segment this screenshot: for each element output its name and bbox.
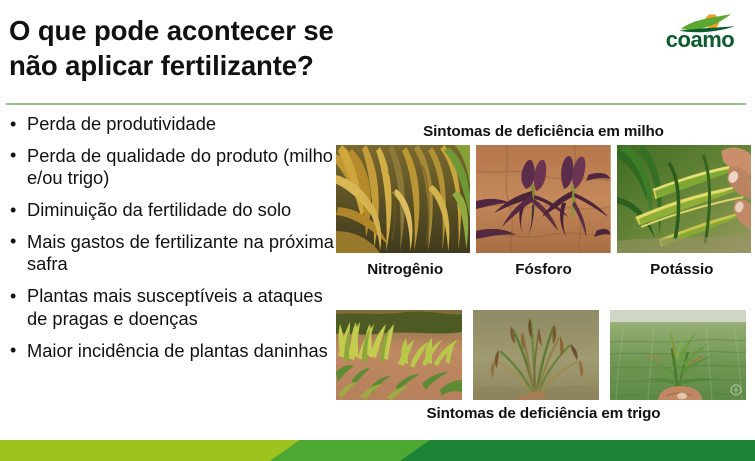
wheat-potassium-photo [610, 310, 746, 400]
corn-section-caption: Sintomas de deficiência em milho [336, 123, 751, 140]
wheat-section-caption: Sintomas de deficiência em trigo [336, 405, 751, 422]
wheat-nitrogen-photo [336, 310, 462, 400]
bullet-icon: • [10, 113, 16, 135]
bullet-icon: • [10, 199, 16, 221]
page-title: O que pode acontecer se não aplicar fert… [9, 14, 619, 83]
slide-canvas: O que pode acontecer se não aplicar fert… [0, 0, 755, 461]
bullet-icon: • [10, 144, 16, 166]
bullet-icon: • [10, 285, 16, 307]
list-item: • Perda de produtividade [6, 113, 336, 136]
wheat-phosphorus-photo [473, 310, 599, 400]
list-item: • Diminuição da fertilidade do solo [6, 199, 336, 222]
nutrient-label-row: Nitrogênio Fósforo Potássio [336, 261, 751, 278]
corn-potassium-photo [617, 145, 751, 253]
nutrient-label-phosphorus: Fósforo [474, 261, 612, 278]
coamo-logo: coamo [657, 8, 743, 52]
title-line-2: não aplicar fertilizante? [9, 49, 619, 84]
list-item-label: Perda de produtividade [27, 113, 216, 134]
corn-nitrogen-photo [336, 145, 470, 253]
nutrient-label-potassium: Potássio [613, 261, 751, 278]
bullet-icon: • [10, 230, 16, 252]
bullet-icon: • [10, 339, 16, 361]
list-item-label: Mais gastos de fertilizante na próxima s… [27, 231, 334, 275]
corn-photo-row [336, 145, 751, 253]
header-divider [6, 103, 746, 105]
wheat-photo-row [336, 310, 751, 400]
list-item: • Mais gastos de fertilizante na próxima… [6, 231, 336, 276]
list-item-label: Perda de qualidade do produto (milho e/o… [27, 145, 333, 189]
footer-light-segment [0, 440, 300, 461]
list-item-label: Plantas mais susceptíveis a ataques de p… [27, 285, 323, 329]
list-item-label: Maior incidência de plantas daninhas [27, 340, 328, 361]
footer-dark-right [400, 440, 755, 461]
title-line-1: O que pode acontecer se [9, 14, 619, 49]
list-item-label: Diminuição da fertilidade do solo [27, 199, 291, 220]
corn-phosphorus-photo [476, 145, 610, 253]
list-item: • Maior incidência de plantas daninhas [6, 340, 336, 363]
footer-bar [0, 440, 755, 461]
list-item: • Perda de qualidade do produto (milho e… [6, 145, 336, 190]
logo-wordmark: coamo [666, 27, 734, 52]
nutrient-label-nitrogen: Nitrogênio [336, 261, 474, 278]
list-item: • Plantas mais susceptíveis a ataques de… [6, 285, 336, 330]
benefits-list: • Perda de produtividade • Perda de qual… [6, 113, 336, 371]
